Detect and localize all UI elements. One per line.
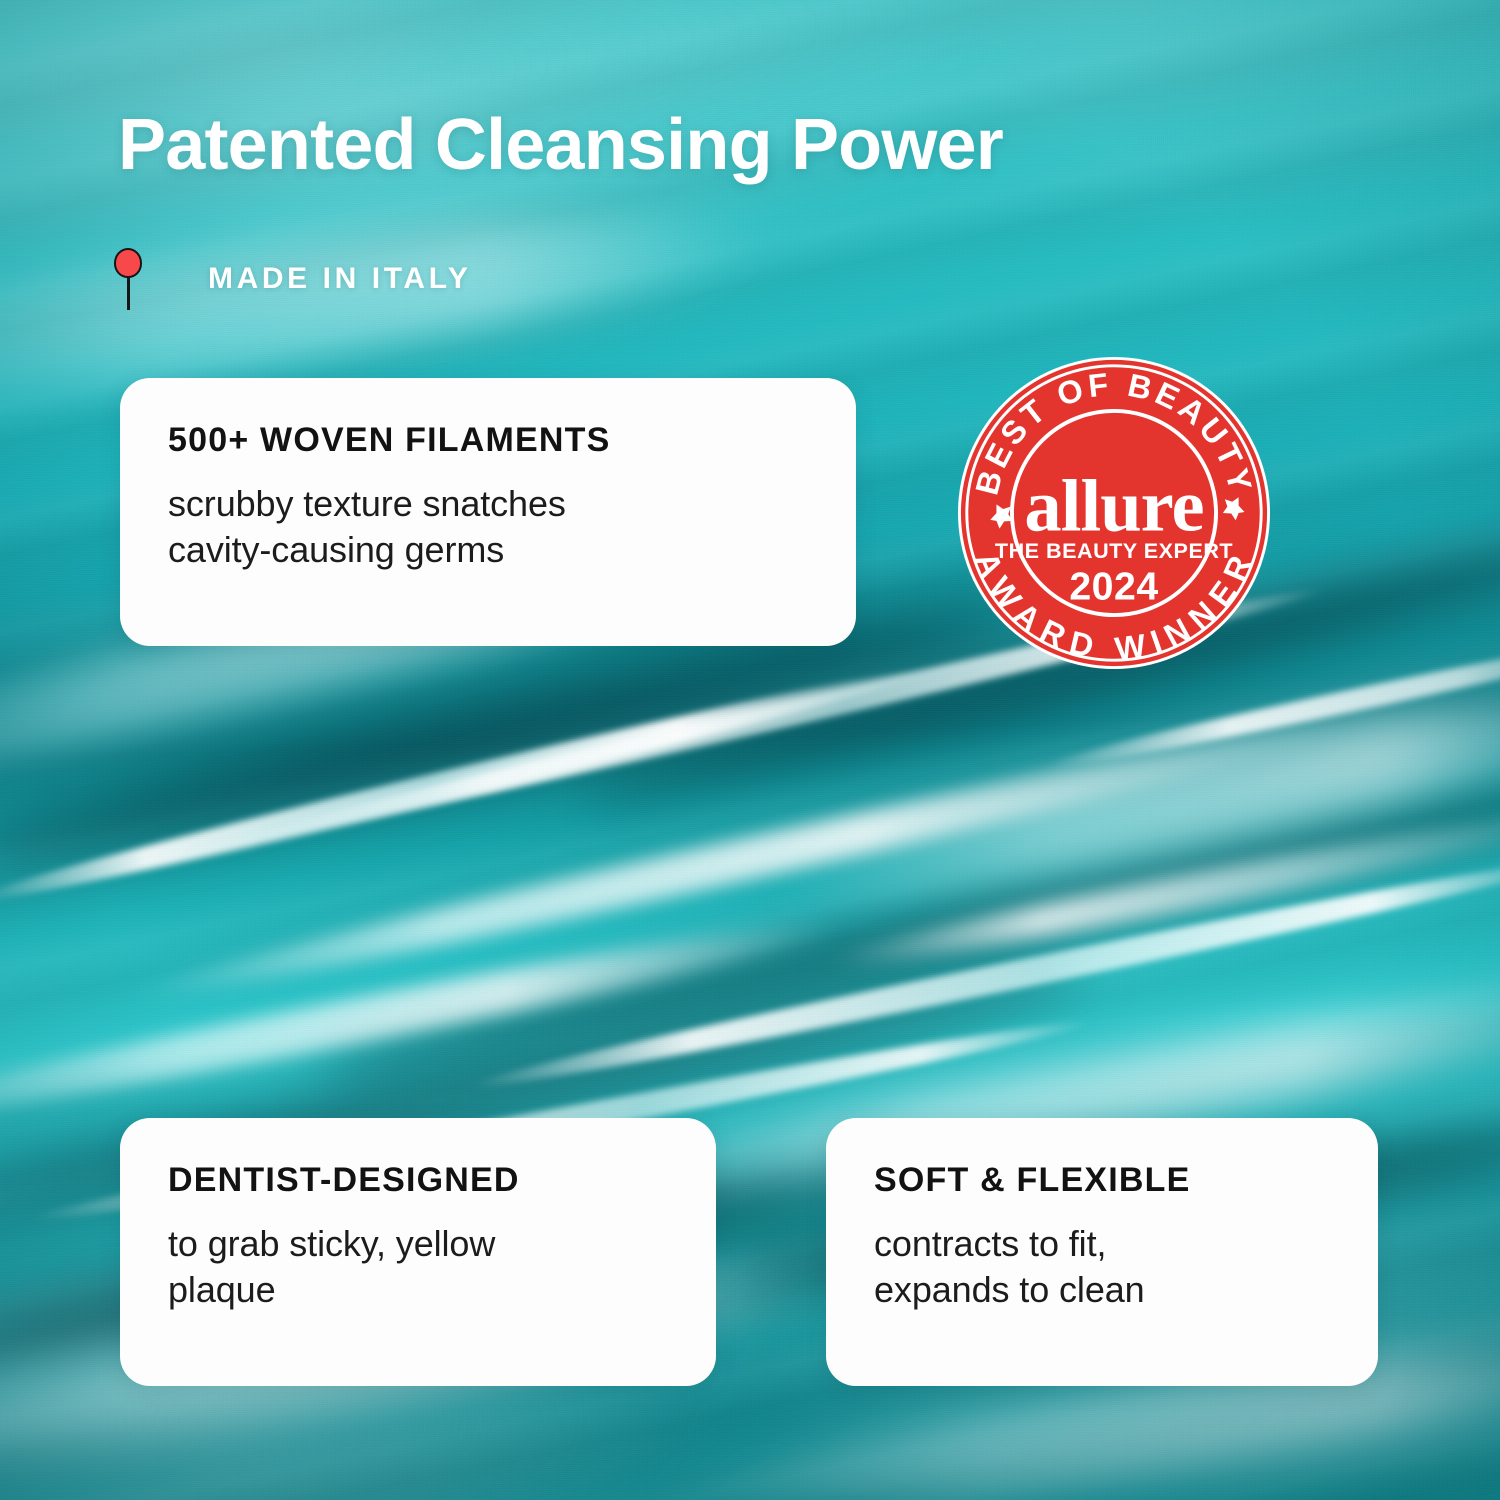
product-feature-image: Patented Cleansing Power MADE IN ITALY 5… — [0, 0, 1500, 1500]
feature-card-body-line: cavity-causing germs — [168, 527, 816, 573]
badge-brand-wordmark: allure — [1024, 466, 1203, 548]
page-title: Patented Cleansing Power — [118, 108, 1003, 184]
badge-tagline: THE BEAUTY EXPERT — [995, 538, 1233, 563]
feature-card-body-line: contracts to fit, — [874, 1221, 1338, 1267]
feature-card-title: DENTIST-DESIGNED — [168, 1162, 676, 1199]
feature-card-body: contracts to fit, expands to clean — [874, 1221, 1338, 1313]
feature-card-body: to grab sticky, yellow plaque — [168, 1221, 676, 1313]
feature-card-body: scrubby texture snatches cavity-causing … — [168, 481, 816, 573]
feature-card-body-line: to grab sticky, yellow — [168, 1221, 676, 1267]
allure-award-badge: BEST OF BEAUTY AWARD WINNER allure THE B… — [957, 356, 1271, 670]
feature-card-body-line: plaque — [168, 1267, 676, 1313]
origin-label: MADE IN ITALY — [208, 262, 471, 296]
feature-card-title: SOFT & FLEXIBLE — [874, 1162, 1338, 1199]
feature-card-body-line: expands to clean — [874, 1267, 1338, 1313]
feature-card-soft-flexible: SOFT & FLEXIBLE contracts to fit, expand… — [826, 1118, 1378, 1386]
feature-card-filaments: 500+ WOVEN FILAMENTS scrubby texture sna… — [120, 378, 856, 646]
feature-card-body-line: scrubby texture snatches — [168, 481, 816, 527]
origin-row: MADE IN ITALY — [110, 248, 471, 310]
badge-year: 2024 — [1069, 564, 1158, 608]
feature-card-dentist: DENTIST-DESIGNED to grab sticky, yellow … — [120, 1118, 716, 1386]
location-pin-icon — [110, 248, 146, 310]
feature-card-title: 500+ WOVEN FILAMENTS — [168, 422, 816, 459]
